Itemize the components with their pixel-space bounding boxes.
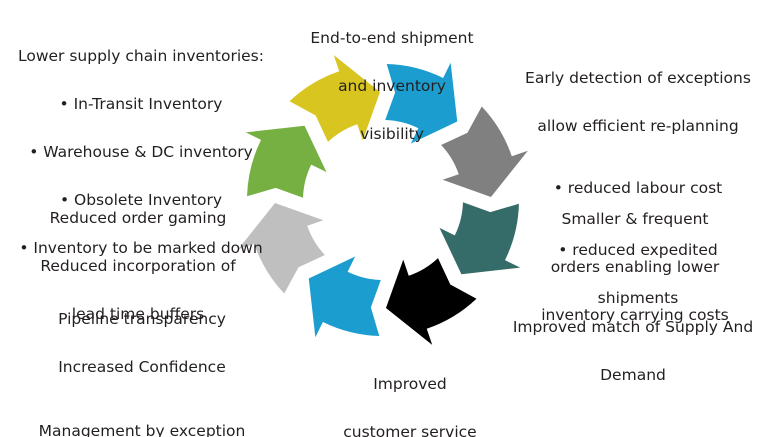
label-bullet-in-transit: • In-Transit Inventory: [2, 92, 280, 116]
cycle-arrow-customer-service: [309, 257, 381, 338]
label-early-detection-line-1: Early detection of exceptions: [505, 66, 771, 90]
label-supply-demand-line-1: Improved match of Supply And: [496, 315, 770, 339]
label-order-gaming-line-3: lead time buffers: [6, 302, 270, 326]
label-bullet-warehouse-dc: • Warehouse & DC inventory: [2, 140, 280, 164]
label-visibility-line-2: and inventory: [288, 74, 496, 98]
label-pipeline-line-2: Increased Confidence: [6, 355, 278, 379]
label-customer-service-line-2: customer service: [310, 420, 510, 437]
label-customer-service: Improved customer service levels with lo…: [310, 348, 510, 437]
label-lower-inventories-heading: Lower supply chain inventories:: [2, 44, 280, 68]
label-visibility-line-1: End-to-end shipment: [288, 26, 496, 50]
label-smaller-orders-line-1: Smaller & frequent: [500, 207, 770, 231]
label-order-gaming-line-2: Reduced incorporation of: [6, 254, 270, 278]
label-visibility-line-3: visibility: [288, 122, 496, 146]
label-smaller-orders-line-2: orders enabling lower: [500, 255, 770, 279]
label-supply-demand-line-2: Demand: [496, 363, 770, 387]
label-management-by-exception: Management by exception: [6, 419, 278, 437]
label-end-to-end-visibility: End-to-end shipment and inventory visibi…: [288, 2, 496, 170]
label-order-gaming: Reduced order gaming Reduced incorporati…: [6, 182, 270, 350]
diagram-canvas: Lower supply chain inventories: • In-Tra…: [0, 0, 773, 437]
label-order-gaming-line-1: Reduced order gaming: [6, 206, 270, 230]
label-supply-demand-match: Improved match of Supply And Demand: [496, 291, 770, 411]
label-early-detection-line-2: allow efficient re-planning: [505, 114, 771, 138]
label-customer-service-line-1: Improved: [310, 372, 510, 396]
